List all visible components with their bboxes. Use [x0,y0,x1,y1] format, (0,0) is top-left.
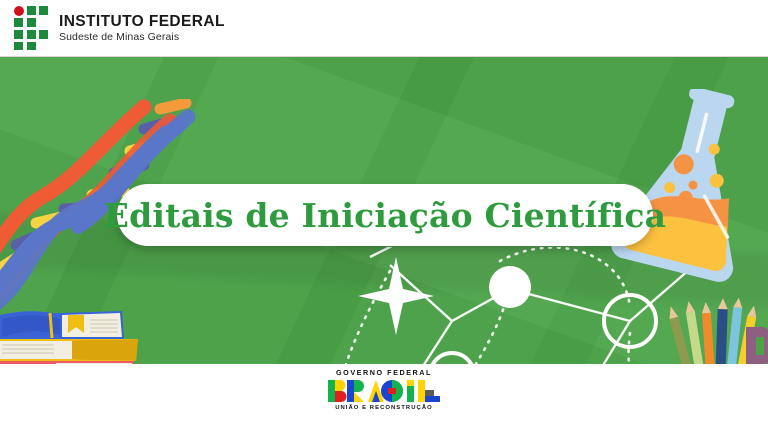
page-title: Editais de Iniciação Científica [104,196,666,235]
brasil-wordmark-icon [328,380,440,402]
pencil-cup-illustration [660,297,768,364]
governo-federal-logo[interactable]: GOVERNO FEDERAL [304,368,464,411]
instituto-federal-grid-icon [14,6,50,50]
banner-title-plate: Editais de Iniciação Científica [117,184,653,246]
books-stack-illustration [0,289,170,364]
institution-name: INSTITUTO FEDERAL [59,14,225,30]
instituto-federal-logo[interactable]: INSTITUTO FEDERAL Sudeste de Minas Gerai… [14,6,225,50]
campus-name: Sudeste de Minas Gerais [59,32,225,43]
uniao-reconstrucao-label: UNIÃO E RECONSTRUÇÃO [304,405,464,411]
governo-federal-label: GOVERNO FEDERAL [304,368,464,377]
banner-canvas: Editais de Iniciação Científica INSTITUT… [0,0,768,432]
header-divider [0,56,768,57]
